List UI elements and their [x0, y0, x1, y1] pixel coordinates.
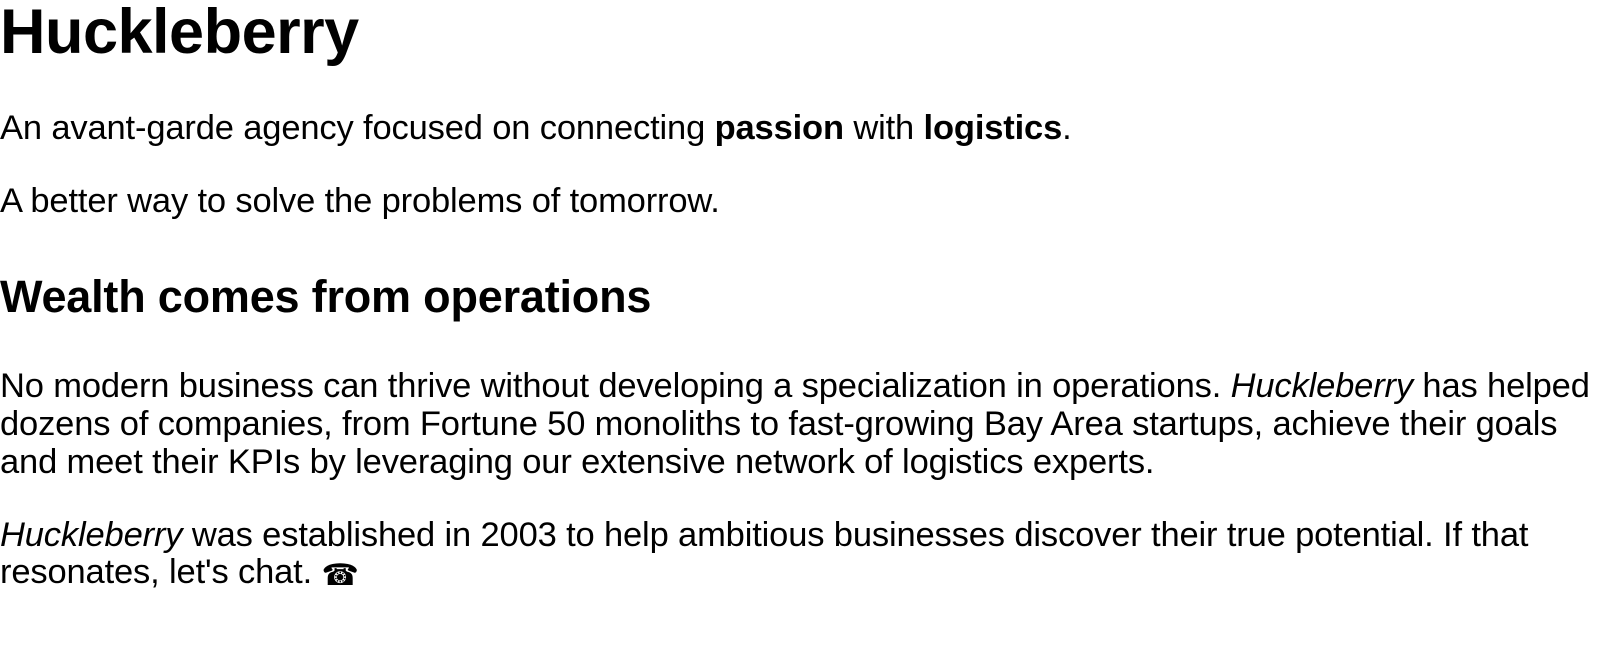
- lead-text-part-1: An avant-garde agency focused on connect…: [0, 109, 715, 147]
- lead-emphasis-logistics: logistics: [924, 109, 1063, 147]
- spacer: [0, 323, 1616, 368]
- tagline-paragraph: A better way to solve the problems of to…: [0, 181, 1616, 222]
- telephone-icon: ☎: [321, 561, 358, 591]
- body-paragraph-2: Huckleberry was established in 2003 to h…: [0, 517, 1616, 593]
- lead-text-part-3: .: [1062, 109, 1071, 147]
- lead-text-part-2: with: [844, 109, 924, 147]
- spacer: [0, 482, 1616, 517]
- spacer: [0, 222, 1616, 269]
- body-paragraph-1: No modern business can thrive without de…: [0, 368, 1616, 482]
- document-body: Huckleberry An avant-garde agency focuse…: [0, 0, 1616, 592]
- lead-paragraph: An avant-garde agency focused on connect…: [0, 108, 1616, 149]
- lead-emphasis-passion: passion: [715, 109, 844, 147]
- spacer: [0, 149, 1616, 181]
- body-text-part-1: was established in 2003 to help ambitiou…: [0, 516, 1528, 592]
- page-title: Huckleberry: [0, 0, 1616, 69]
- brand-name-italic: Huckleberry: [1231, 367, 1413, 405]
- section-heading: Wealth comes from operations: [0, 270, 1616, 324]
- brand-name-italic: Huckleberry: [0, 516, 182, 554]
- body-text-part-1: No modern business can thrive without de…: [0, 367, 1231, 405]
- spacer: [0, 74, 1616, 108]
